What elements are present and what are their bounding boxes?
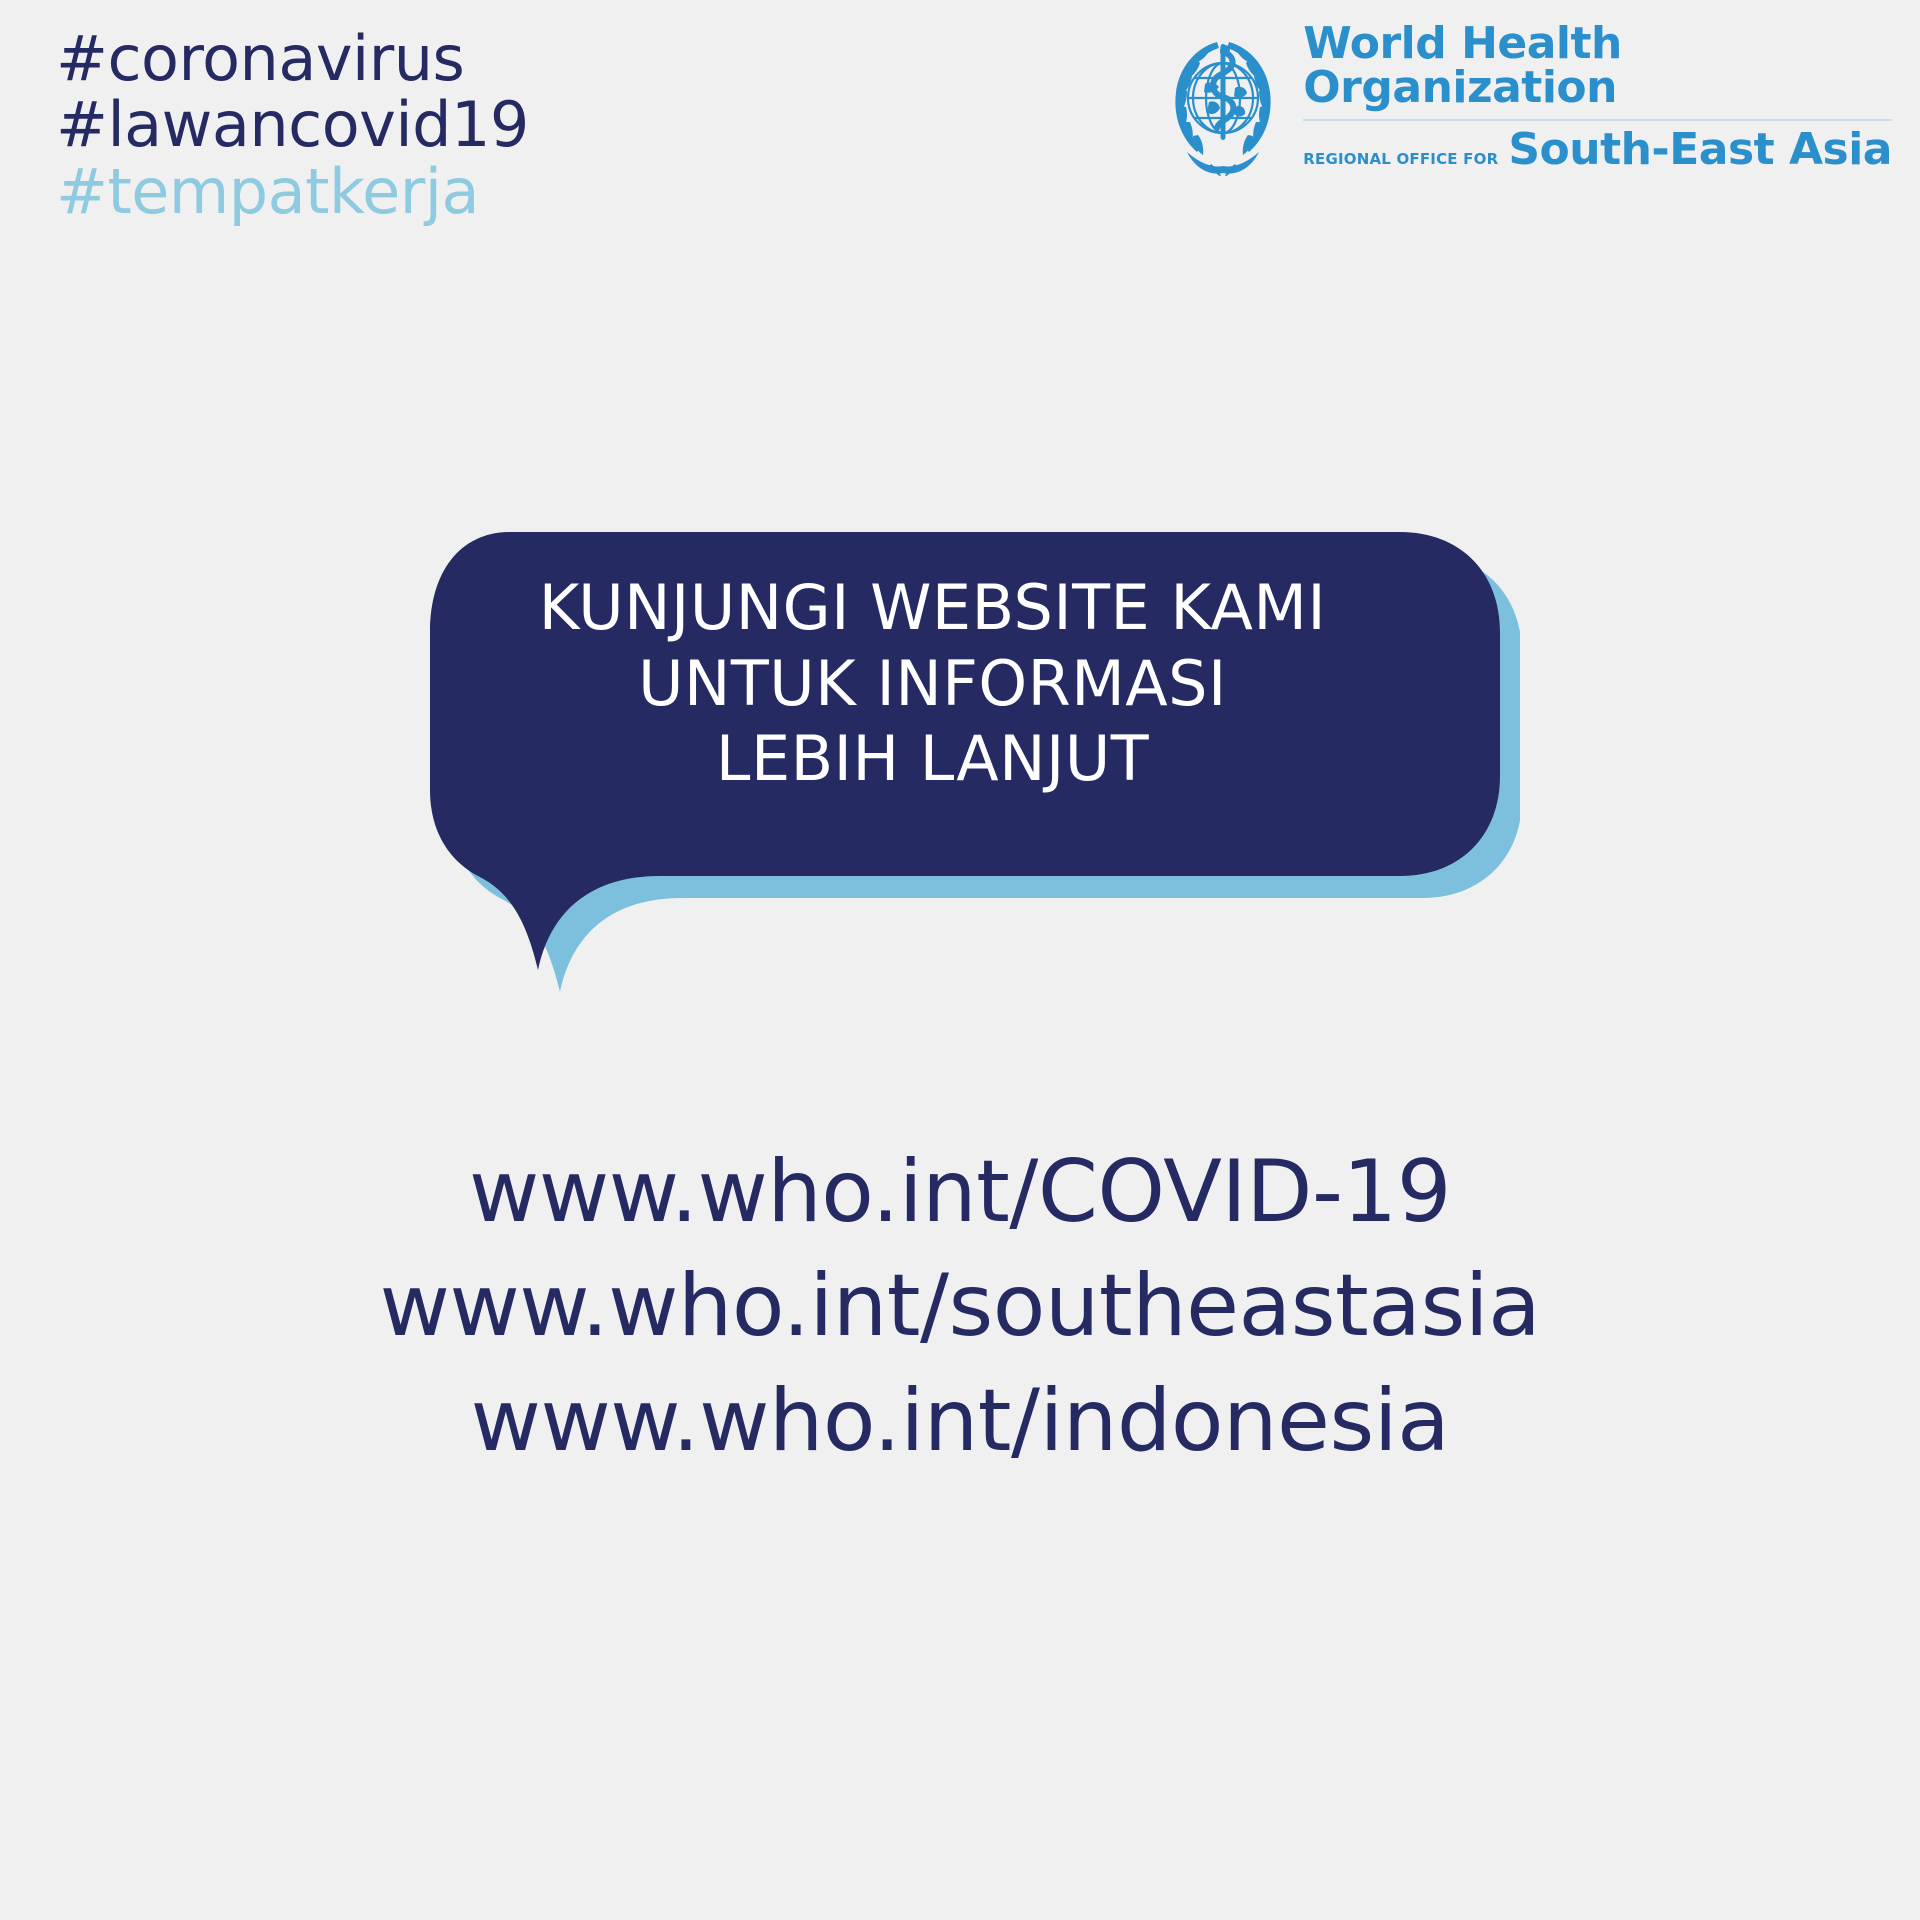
speech-bubble-text: KUNJUNGI WEBSITE KAMI UNTUK INFORMASI LE… — [400, 570, 1465, 797]
bubble-line-3: LEBIH LANJUT — [400, 721, 1465, 797]
who-name-line-2: Organization — [1303, 66, 1617, 110]
who-name-line-1: World Health — [1303, 22, 1622, 66]
speech-bubble: KUNJUNGI WEBSITE KAMI UNTUK INFORMASI LE… — [400, 500, 1520, 1040]
url-indonesia[interactable]: www.who.int/indonesia — [0, 1364, 1920, 1478]
who-wordmark: World Health Organization REGIONAL OFFIC… — [1303, 22, 1892, 172]
who-divider — [1303, 119, 1892, 121]
poster-canvas: #coronavirus #lawancovid19 #tempatkerja — [0, 0, 1920, 1920]
url-list: www.who.int/COVID-19 www.who.int/southea… — [0, 1135, 1920, 1478]
hashtag-group: #coronavirus #lawancovid19 #tempatkerja — [56, 26, 529, 225]
hashtag-coronavirus: #coronavirus — [56, 26, 529, 92]
url-southeastasia[interactable]: www.who.int/southeastasia — [0, 1249, 1920, 1363]
bubble-line-1: KUNJUNGI WEBSITE KAMI — [400, 570, 1465, 646]
who-region-row: REGIONAL OFFICE FOR South-East Asia — [1303, 128, 1892, 172]
hashtag-lawancovid19: #lawancovid19 — [56, 92, 529, 158]
who-regional-office-label: REGIONAL OFFICE FOR — [1303, 150, 1498, 168]
hashtag-tempatkerja: #tempatkerja — [56, 159, 529, 225]
who-region-name: South-East Asia — [1508, 128, 1892, 172]
who-emblem-icon — [1157, 26, 1289, 176]
url-covid19[interactable]: www.who.int/COVID-19 — [0, 1135, 1920, 1249]
bubble-line-2: UNTUK INFORMASI — [400, 646, 1465, 722]
who-logo: World Health Organization REGIONAL OFFIC… — [1157, 22, 1892, 176]
